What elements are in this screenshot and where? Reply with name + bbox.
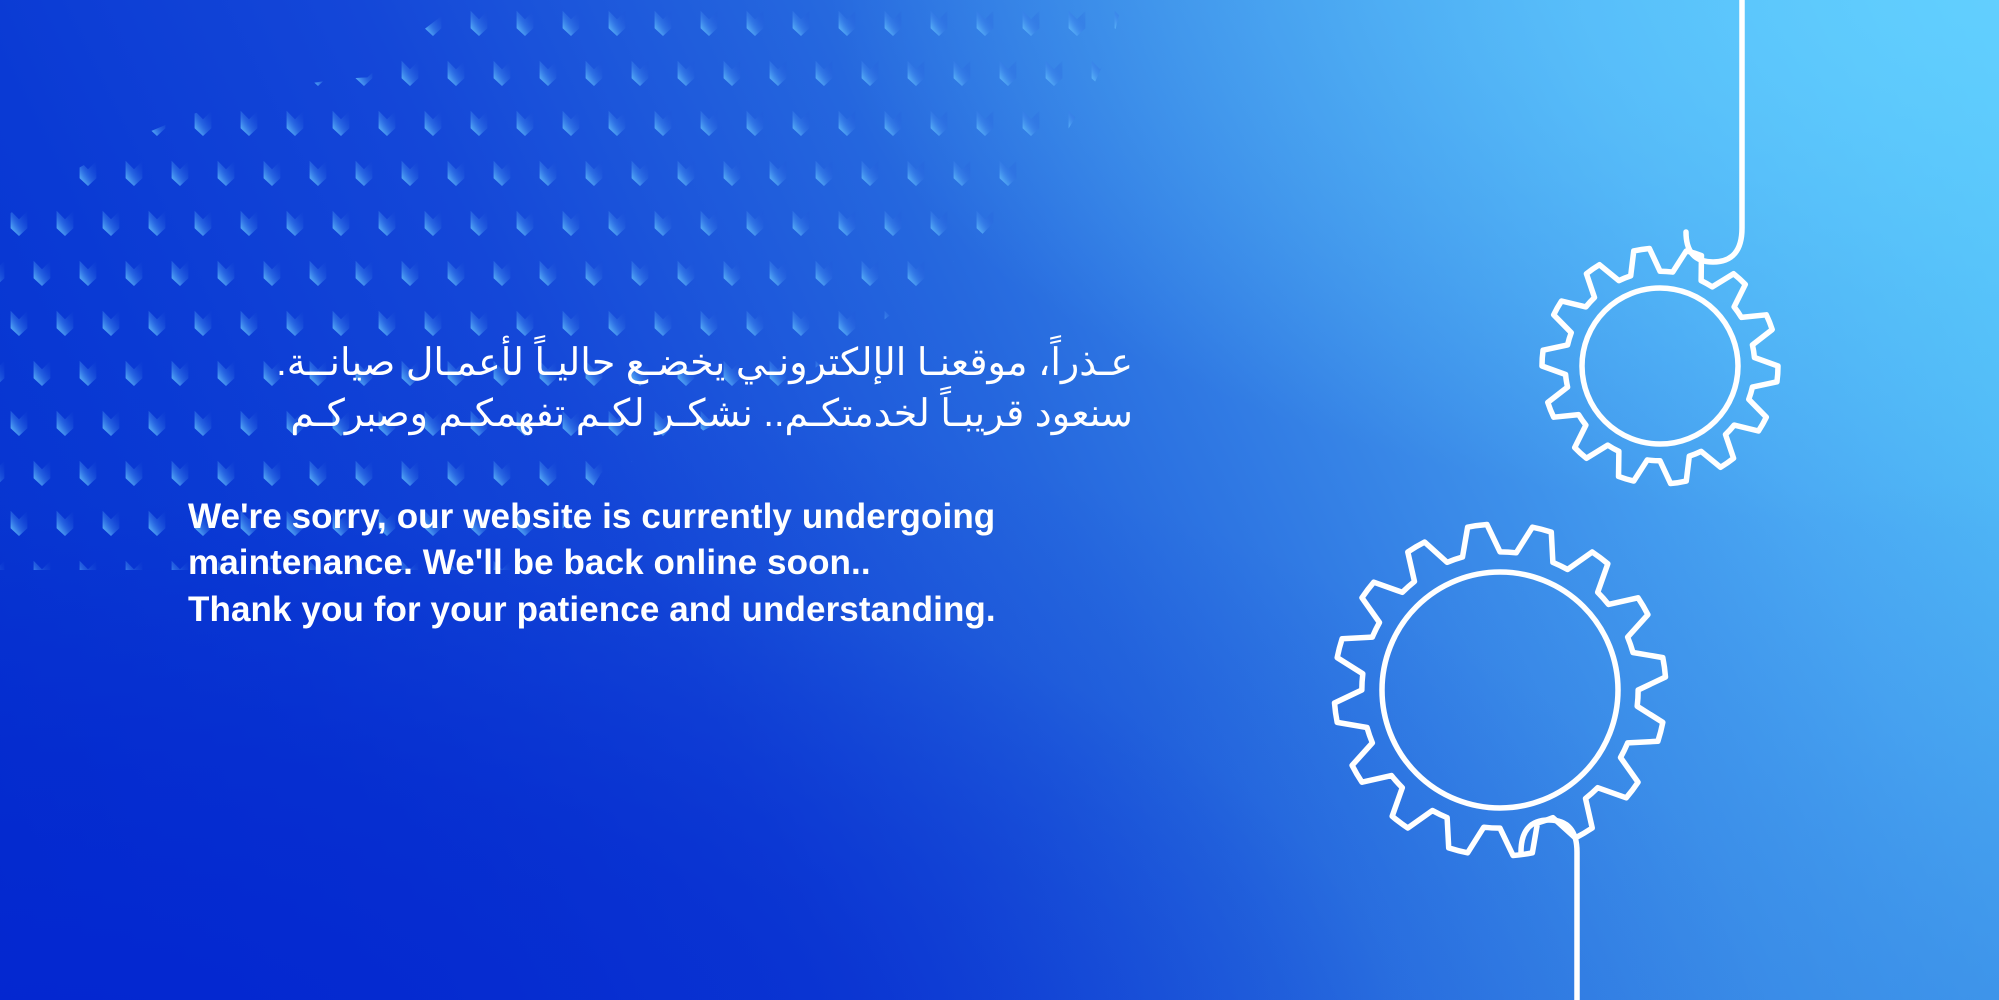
- arabic-line-2: سنعود قريبـاً لخدمتكـم.. نشكـر لكـم تفهم…: [188, 389, 1133, 440]
- arabic-line-1: عـذراً، موقعنـا الإلكترونـي يخضـع حاليـا…: [188, 338, 1133, 389]
- arabic-message: عـذراً، موقعنـا الإلكترونـي يخضـع حاليـا…: [188, 338, 1133, 440]
- message-block: عـذراً، موقعنـا الإلكترونـي يخضـع حاليـا…: [188, 338, 1198, 633]
- english-line-1: We're sorry, our website is currently un…: [188, 494, 1198, 541]
- english-line-2: maintenance. We'll be back online soon..: [188, 540, 1198, 587]
- english-message: We're sorry, our website is currently un…: [188, 494, 1198, 634]
- english-line-3: Thank you for your patience and understa…: [188, 587, 1198, 634]
- maintenance-page: عـذراً، موقعنـا الإلكترونـي يخضـع حاليـا…: [0, 0, 1999, 1000]
